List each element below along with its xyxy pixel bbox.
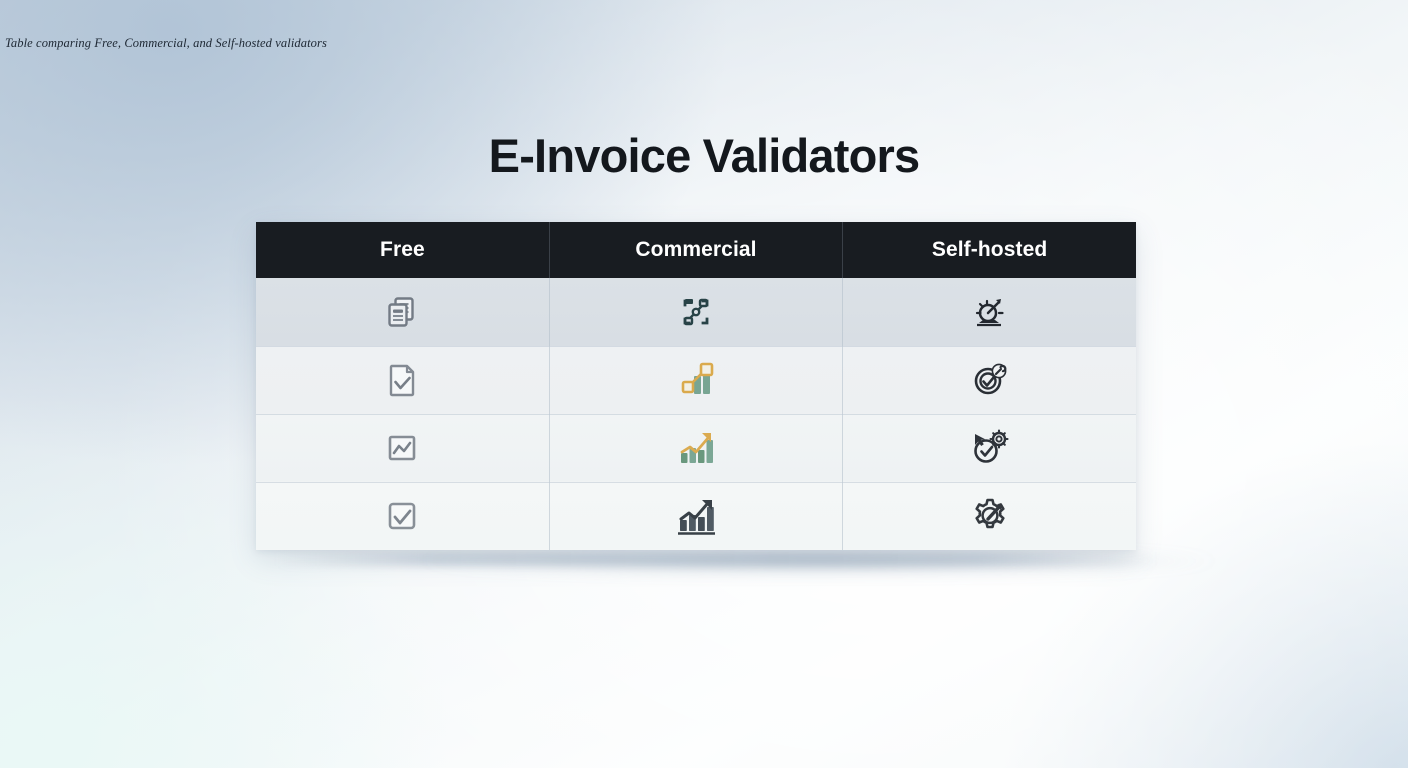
column-header-commercial[interactable]: Commercial — [549, 222, 842, 278]
table-ground-shadow — [276, 552, 1156, 566]
cell-free-row3[interactable] — [256, 414, 549, 482]
gear-pen-icon — [843, 495, 1136, 537]
target-arrow-icon — [843, 291, 1136, 333]
bar-chart-arrow-icon — [550, 495, 842, 537]
checkbox-check-icon — [256, 497, 549, 535]
table-row — [256, 278, 1136, 346]
cell-free-row2[interactable] — [256, 346, 549, 414]
cell-free-row4[interactable] — [256, 482, 549, 550]
bar-chart-trend-icon — [550, 360, 842, 400]
table-header-row: Free Commercial Self-hosted — [256, 222, 1136, 278]
cell-free-row1[interactable] — [256, 278, 549, 346]
page-title: E-Invoice Validators — [0, 128, 1408, 183]
figure-caption: Table comparing Free, Commercial, and Se… — [5, 36, 327, 51]
target-check-wrench-icon — [843, 359, 1136, 401]
document-check-icon — [256, 360, 549, 400]
table-row — [256, 346, 1136, 414]
cell-commercial-row1[interactable] — [549, 278, 842, 346]
node-workflow-icon — [550, 292, 842, 332]
cell-selfhosted-row4[interactable] — [843, 482, 1136, 550]
cell-commercial-row2[interactable] — [549, 346, 842, 414]
cell-commercial-row4[interactable] — [549, 482, 842, 550]
validators-table-container: Free Commercial Self-hosted — [256, 222, 1136, 550]
table-header: Free Commercial Self-hosted — [256, 222, 1136, 278]
column-header-free[interactable]: Free — [256, 222, 549, 278]
table-body — [256, 278, 1136, 550]
cell-selfhosted-row1[interactable] — [843, 278, 1136, 346]
table-row — [256, 414, 1136, 482]
growth-arrow-bars-icon — [550, 428, 842, 468]
target-gear-cursor-icon — [843, 427, 1136, 469]
validators-comparison-table: Free Commercial Self-hosted — [256, 222, 1136, 550]
table-row — [256, 482, 1136, 550]
documents-stack-icon — [256, 291, 549, 333]
cell-commercial-row3[interactable] — [549, 414, 842, 482]
cell-selfhosted-row3[interactable] — [843, 414, 1136, 482]
cell-selfhosted-row2[interactable] — [843, 346, 1136, 414]
line-chart-frame-icon — [256, 430, 549, 466]
page-background: Table comparing Free, Commercial, and Se… — [0, 0, 1408, 768]
column-header-selfhosted[interactable]: Self-hosted — [843, 222, 1136, 278]
